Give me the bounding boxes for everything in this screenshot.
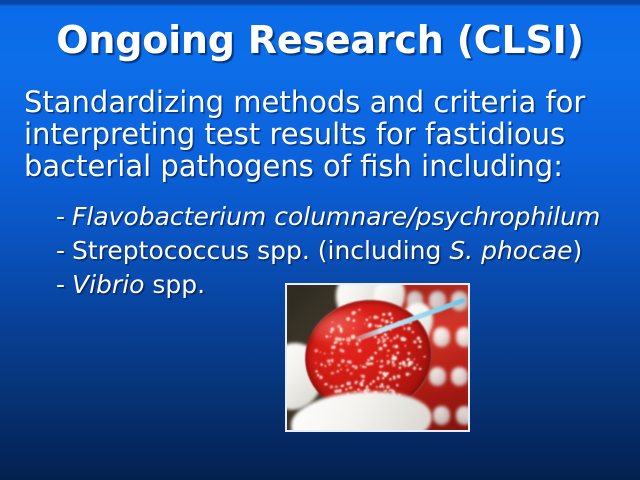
bacterial-colony	[402, 361, 405, 364]
bacterial-colony	[419, 340, 421, 342]
bacterial-colony	[389, 378, 392, 381]
bacterial-colony	[399, 366, 401, 368]
bacterial-colony	[339, 389, 342, 392]
bacterial-colony	[424, 356, 426, 358]
body-line: Standardizing methods and criteria for	[24, 86, 624, 118]
bacterial-colony	[394, 357, 397, 360]
bullet-dash: -	[56, 234, 72, 268]
bacterial-colony	[320, 351, 322, 353]
bacterial-colony	[314, 348, 317, 351]
bacterial-colony	[332, 345, 336, 349]
bacterial-colony	[372, 380, 374, 382]
bacterial-colony	[383, 386, 385, 388]
bacterial-colony	[376, 316, 379, 319]
bacterial-colony	[342, 338, 344, 340]
bacterial-colony	[381, 318, 384, 321]
body-line: interpreting test results for fastidious	[24, 118, 624, 150]
slide-body-paragraph: Standardizing methods and criteria for i…	[24, 86, 624, 182]
bacterial-colony	[376, 360, 378, 362]
bullet-dash: -	[56, 200, 72, 234]
bacterial-colony	[400, 362, 401, 363]
bacterial-colony	[402, 337, 406, 341]
list-item: -Streptococcus spp. (including S. phocae…	[56, 234, 640, 268]
bacterial-colony	[413, 339, 416, 342]
bacterial-colony	[360, 375, 362, 377]
bacterial-colony	[326, 335, 328, 337]
bacterial-colony	[385, 319, 388, 322]
bacterial-colony	[347, 381, 351, 385]
bacterial-colony	[324, 382, 327, 385]
bacterial-colony	[358, 308, 360, 310]
bacterial-colony	[337, 370, 339, 372]
bacterial-colony	[377, 377, 380, 380]
bacterial-colony	[324, 353, 325, 354]
bacterial-colony	[386, 371, 389, 374]
bacterial-colony	[408, 364, 410, 366]
bacterial-colony	[369, 323, 372, 326]
bacterial-colony	[412, 366, 416, 370]
bacterial-colony	[395, 344, 398, 347]
list-item-suffix: spp.	[144, 270, 205, 299]
bacterial-colony	[360, 389, 361, 390]
slide: Ongoing Research (CLSI) Standardizing me…	[0, 0, 640, 480]
list-item-species: S. phocae	[449, 236, 572, 265]
list-item-suffix: )	[573, 236, 583, 265]
bacterial-colony	[418, 345, 421, 348]
bacterial-colony	[412, 330, 414, 332]
bacterial-colony	[391, 317, 393, 319]
body-line: bacterial pathogens of fish including:	[24, 150, 624, 182]
bacterial-colony	[350, 372, 353, 375]
bacterial-colony	[388, 350, 389, 351]
bacterial-colony	[382, 312, 385, 315]
bacterial-colony	[365, 366, 366, 367]
bacterial-colony	[362, 379, 364, 381]
bacterial-colony	[330, 384, 333, 387]
bacterial-colony	[338, 324, 341, 327]
list-item-label: Streptococcus spp. (including	[72, 236, 449, 265]
bacterial-colony	[391, 357, 393, 359]
bacterial-colony	[419, 367, 421, 369]
bacterial-colony	[403, 327, 405, 329]
bacterial-colony	[331, 359, 334, 362]
list-item: -Flavobacterium columnare/psychrophilum	[56, 200, 640, 234]
bullet-dash: -	[56, 268, 72, 302]
bacterial-colony	[407, 327, 411, 331]
bacterial-colony	[370, 362, 373, 365]
bacterial-colony	[384, 333, 386, 335]
bacterial-colony	[394, 337, 396, 339]
bacterial-colony	[348, 361, 349, 362]
bacterial-colony	[370, 356, 373, 359]
bacterial-colony	[374, 351, 377, 354]
list-item-label: Flavobacterium columnare/psychrophilum	[72, 202, 600, 231]
bacterial-colony	[341, 384, 344, 387]
bacterial-colony	[320, 363, 323, 366]
bacterial-colony	[353, 320, 355, 322]
bacterial-colony	[383, 343, 386, 346]
bacterial-colony	[381, 360, 383, 362]
list-item-species: Vibrio	[72, 270, 144, 299]
bacterial-colony	[379, 346, 382, 349]
bacterial-colony	[392, 354, 394, 356]
bacterial-colony	[397, 374, 400, 377]
photo-content	[287, 285, 468, 430]
bacterial-colony	[349, 386, 352, 389]
bacterial-colony	[331, 371, 334, 374]
bacterial-colony	[351, 311, 355, 315]
slide-title: Ongoing Research (CLSI)	[0, 18, 640, 62]
bacterial-colony	[365, 319, 367, 321]
bacterial-colony	[382, 340, 385, 343]
bacterial-colony	[346, 365, 347, 366]
bacterial-colony	[347, 337, 351, 341]
bacterial-colony	[407, 357, 410, 360]
bacterial-colony	[358, 348, 362, 352]
bacterial-colony	[335, 385, 338, 388]
bacterial-colony	[328, 359, 331, 362]
blood-agar-plate-photo	[285, 283, 470, 432]
bacterial-colony	[370, 383, 371, 384]
